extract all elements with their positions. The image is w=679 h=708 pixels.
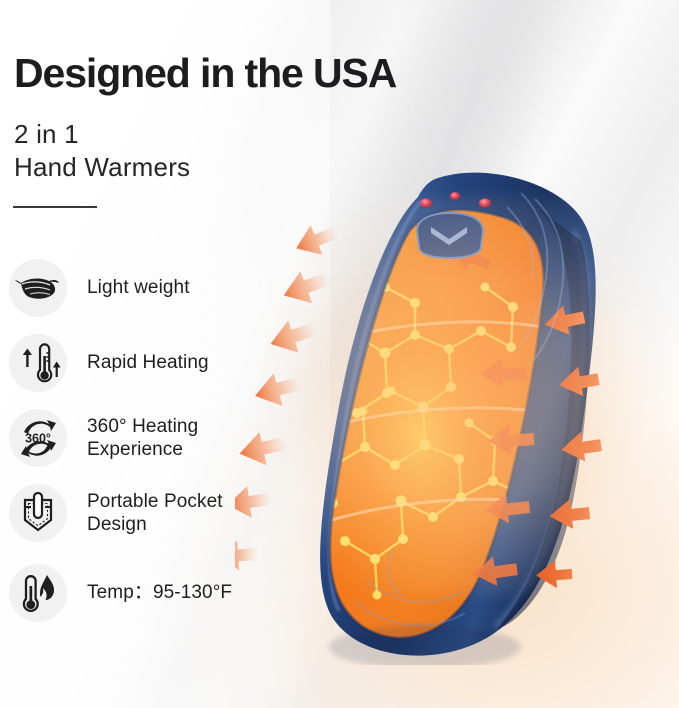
feature-label: 360° Heating Experience (87, 415, 198, 461)
heat-glow (265, 195, 665, 595)
pocket-icon (9, 484, 67, 542)
feature-label: Light weight (87, 276, 190, 299)
thermometer-up-icon (9, 334, 67, 392)
subtitle-line-2: Hand Warmers (14, 152, 190, 183)
feature-item-light-weight: Light weight (9, 259, 190, 317)
feature-item-portable-pocket: Portable Pocket Design (9, 484, 223, 542)
feature-item-temperature: Temp：95-130°F (9, 564, 232, 622)
up-arrow-left (23, 349, 32, 368)
feature-label: Portable Pocket Design (87, 490, 223, 536)
feature-label: Temp：95-130°F (87, 581, 232, 604)
up-arrow-right (53, 362, 61, 378)
rotate-360-icon: 360° (9, 409, 67, 467)
page-title: Designed in the USA (14, 50, 396, 97)
feature-item-rapid-heating: Rapid Heating (9, 334, 209, 392)
rotate-360-label: 360° (25, 432, 51, 446)
product-marketing-image: Designed in the USA 2 in 1 Hand Warmers … (0, 0, 679, 708)
divider-rule (13, 206, 97, 208)
thermometer-flame-icon (9, 564, 67, 622)
feather-icon (9, 259, 67, 317)
feature-item-360-heating: 360° 360° Heating Experience (9, 409, 198, 467)
product-illustration (235, 135, 679, 665)
feature-label: Rapid Heating (87, 351, 209, 374)
subtitle-line-1: 2 in 1 (14, 119, 79, 150)
